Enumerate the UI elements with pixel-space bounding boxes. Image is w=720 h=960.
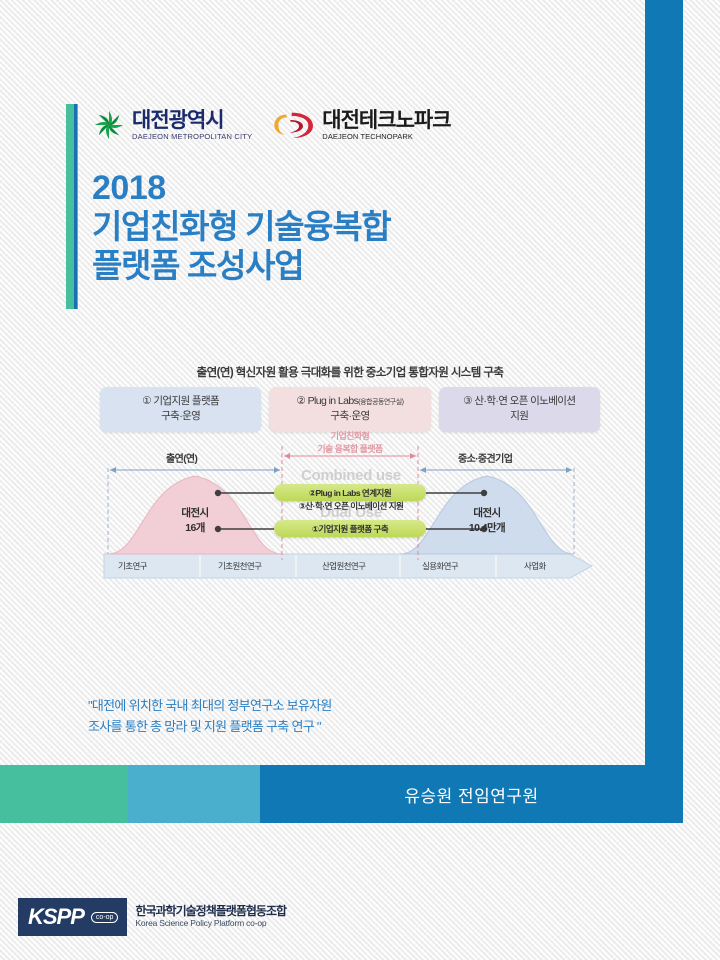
color-block-green <box>0 765 128 823</box>
title-line-1: 기업친화형 기술융복합 <box>92 208 390 247</box>
diagram-box-1-main: ① 기업지원 플랫폼 <box>102 394 259 409</box>
color-block-dark-blue: 유승원 전임연구원 <box>260 765 683 823</box>
diagram-headline: 출연(연) 혁신자원 활용 극대화를 위한 중소기업 통합자원 시스템 구축 <box>100 358 600 387</box>
logo-en-label: DAEJEON METROPOLITAN CITY <box>132 133 252 141</box>
kspp-name-en: Korea Science Policy Platform co-op <box>135 919 286 929</box>
right-peak-label: 대전시 10.4만개 <box>452 506 522 535</box>
kspp-coop-badge: co-op <box>91 912 119 923</box>
kspp-org-name: 한국과학기술정책플랫폼협동조합 Korea Science Policy Pla… <box>135 905 286 929</box>
center-platform-label-line1: 기업친화형 <box>282 430 418 442</box>
left-peak-label: 대전시 16개 <box>160 506 230 535</box>
diagram-box-2-sub: 구축·운영 <box>271 409 428 424</box>
axis-label-2: 산업원천연구 <box>322 560 365 572</box>
bell-curve-chart: Combined use Dual Use ②Plug in Labs 연계지원… <box>100 442 600 592</box>
diagram-box-3-sub: 지원 <box>441 409 598 424</box>
right-blue-band <box>645 0 683 823</box>
capsule-support-platform: ①기업지원 플랫폼 구축 <box>274 520 426 537</box>
logo-en-label: DAEJEON TECHNOPARK <box>322 133 450 141</box>
right-peak-label-line1: 대전시 <box>452 506 522 521</box>
kspp-mark: KSPP co-op <box>18 898 127 936</box>
diagram-box-row: ① 기업지원 플랫폼 구축·운영 ② Plug in Labs(융합공동연구실)… <box>100 387 600 432</box>
footer-logo: KSPP co-op 한국과학기술정책플랫폼협동조합 Korea Science… <box>18 898 286 936</box>
center-platform-label: 기업친화형 기술 융복합 플랫폼 <box>282 430 418 454</box>
axis-label-0: 기초연구 <box>118 560 147 572</box>
axis-label-1: 기초원천연구 <box>218 560 261 572</box>
section-label-left: 출연(연) <box>166 450 197 465</box>
logo-kr-label: 대전광역시 <box>132 110 252 131</box>
right-peak-label-line2: 10.4만개 <box>452 521 522 536</box>
axis-label-4: 사업화 <box>524 560 546 572</box>
kspp-name-kr: 한국과학기술정책플랫폼협동조합 <box>135 905 286 919</box>
ghost-label-combined-use: Combined use <box>260 467 442 484</box>
daejeon-technopark-logo: 대전테크노파크 DAEJEON TECHNOPARK <box>272 110 450 141</box>
diagram-box-2: ② Plug in Labs(융합공동연구실) 구축·운영 <box>269 387 430 432</box>
capsule-plug-in-labs: ②Plug in Labs 연계지원 <box>274 484 426 501</box>
quote-line-1: "대전에 위치한 국내 최대의 정부연구소 보유자원 <box>88 696 508 717</box>
section-label-right: 중소·중견기업 <box>458 450 512 465</box>
concept-diagram: 출연(연) 혁신자원 활용 극대화를 위한 중소기업 통합자원 시스템 구축 ①… <box>100 358 600 598</box>
slide-canvas: 대전광역시 DAEJEON METROPOLITAN CITY 대전테크노파크 … <box>0 0 720 960</box>
capsule-open-innovation: ③산·학·연 오픈 이노베이션 지원 <box>260 500 442 512</box>
axis-label-3: 실용화연구 <box>422 560 458 572</box>
diagram-box-3: ③ 산·학·연 오픈 이노베이션 지원 <box>439 387 600 432</box>
left-peak-label-line2: 16개 <box>160 521 230 536</box>
logo-kr-label: 대전테크노파크 <box>322 110 450 131</box>
diagram-box-1: ① 기업지원 플랫폼 구축·운영 <box>100 387 261 432</box>
technopark-swirl-icon <box>272 110 316 140</box>
diagram-box-2-paren: (융합공동연구실) <box>358 399 403 406</box>
title-line-2: 플랫폼 조성사업 <box>92 247 390 286</box>
diagram-box-2-main: ② Plug in Labs(융합공동연구실) <box>271 394 428 409</box>
color-block-light-blue <box>128 765 260 823</box>
title-year: 2018 <box>92 168 390 208</box>
daejeon-pinwheel-icon <box>92 108 126 142</box>
author-name: 유승원 전임연구원 <box>404 782 538 807</box>
center-platform-label-line2: 기술 융복합 플랫폼 <box>282 443 418 455</box>
quote-line-2: 조사를 통한 총 망라 및 지원 플랫폼 구축 연구 " <box>88 717 508 738</box>
author-color-bar: 유승원 전임연구원 <box>0 765 683 823</box>
diagram-box-2-main-text: ② Plug in Labs <box>297 395 359 407</box>
daejeon-metropolitan-city-logo: 대전광역시 DAEJEON METROPOLITAN CITY <box>92 108 252 142</box>
diagram-box-1-sub: 구축·운영 <box>102 409 259 424</box>
diagram-box-3-main: ③ 산·학·연 오픈 이노베이션 <box>441 394 598 409</box>
logo-row: 대전광역시 DAEJEON METROPOLITAN CITY 대전테크노파크 … <box>92 108 451 142</box>
kspp-wordmark: KSPP <box>28 904 84 930</box>
title-accent-bar <box>66 104 78 309</box>
page-title: 2018 기업친화형 기술융복합 플랫폼 조성사업 <box>92 168 390 286</box>
research-quote: "대전에 위치한 국내 최대의 정부연구소 보유자원 조사를 통한 총 망라 및… <box>88 696 508 738</box>
left-peak-label-line1: 대전시 <box>160 506 230 521</box>
